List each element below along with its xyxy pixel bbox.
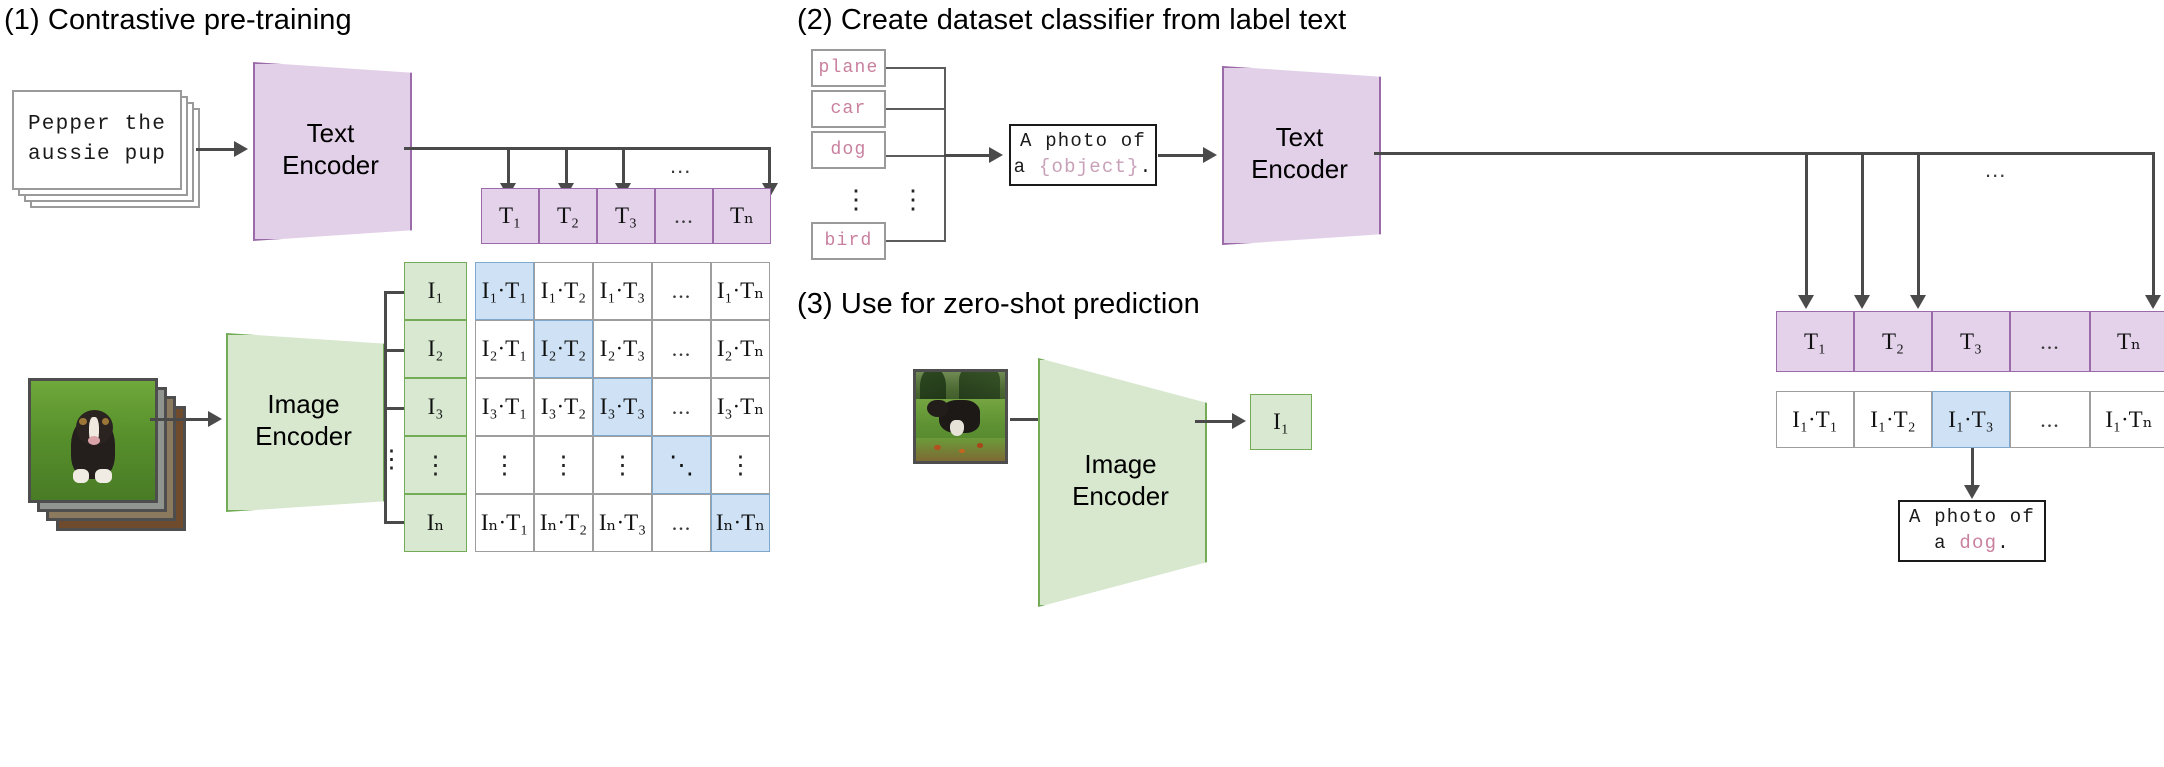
t1-drop-line-s1 <box>507 147 510 185</box>
matrix-cell-r4c3: ⋮ <box>593 436 652 494</box>
section-3-title: (3) Use for zero-shot prediction <box>797 288 1200 321</box>
prompt-input-arrow <box>989 147 1003 163</box>
score-cell-ellipsis: ... <box>2010 391 2090 448</box>
label-text-plane: plane <box>818 58 878 78</box>
t3-drop-line-s2 <box>1917 152 1920 298</box>
caption-card-stack: Pepper the aussie pup <box>12 90 202 210</box>
score-cell-1: I₁·T₁ <box>1776 391 1854 448</box>
score-to-prediction-line <box>1971 448 1974 488</box>
caption-line-1: Pepper the <box>28 110 166 140</box>
prompt-input-line <box>944 154 992 157</box>
score-row-s3: I₁·T₁ I₁·T₂ I₁·T₃ ... I₁·Tₙ <box>1776 391 2164 448</box>
matrix-cell-r2c4: ... <box>652 320 711 378</box>
t1-drop-line-s2 <box>1805 152 1808 298</box>
matrix-cell-r2c5: I₂·Tₙ <box>711 320 770 378</box>
label-list-ellipsis-right: ⋮ <box>900 192 926 208</box>
matrix-cell-r5c1: Iₙ·T₁ <box>475 494 534 552</box>
prompt-line-1: A photo of <box>1020 129 1146 155</box>
caption-card-front: Pepper the aussie pup <box>12 90 182 190</box>
section-2-title: (2) Create dataset classifier from label… <box>797 4 1346 37</box>
matrix-cell-r5c5: Iₙ·Tₙ <box>711 494 770 552</box>
label-text-car: car <box>830 99 866 119</box>
image-encoder-s3: Image Encoder <box>1038 358 1203 603</box>
t2-drop-line-s1 <box>565 147 568 185</box>
t3-drop-line-s1 <box>622 147 625 185</box>
tn-drop-arrow-s2 <box>2145 295 2161 309</box>
conn-car-down <box>944 108 946 156</box>
matrix-cell-r3c5: I₃·Tₙ <box>711 378 770 436</box>
arrow-encoder-to-i1-line <box>1195 420 1235 423</box>
prediction-suffix: . <box>1997 532 2010 554</box>
prediction-line-1: A photo of <box>1909 505 2035 531</box>
arrow-caption-to-text-encoder-line <box>196 148 236 151</box>
i-cell-1-s1: I₁ <box>404 262 467 320</box>
score-cell-2: I₁·T₂ <box>1854 391 1932 448</box>
prediction-line-2-prefix: a <box>1934 532 1959 554</box>
text-encoder-s1-line2: Encoder <box>282 150 379 182</box>
t-cell-2-s2: T₂ <box>1854 311 1932 372</box>
matrix-cell-r3c2: I₃·T₂ <box>534 378 593 436</box>
prediction-slot: dog <box>1959 532 1997 554</box>
t-cell-n-s1: Tₙ <box>713 188 771 244</box>
label-list-ellipsis-left: ⋮ <box>843 192 869 208</box>
text-encoder-s1: Text Encoder <box>253 62 408 237</box>
matrix-cell-r5c2: Iₙ·T₂ <box>534 494 593 552</box>
matrix-row: ⋮ ⋮ ⋮ ⋱ ⋮ <box>475 436 770 494</box>
t3-drop-arrow-s2 <box>1910 295 1926 309</box>
label-text-bird: bird <box>824 231 872 251</box>
training-image-puppy <box>28 378 158 503</box>
prediction-box: A photo of a dog. <box>1898 500 2046 562</box>
t-cell-ellipsis-s2: ... <box>2010 311 2090 372</box>
text-encoder-bus-s2 <box>1374 152 2154 155</box>
i-cell-ellipsis-s1: ⋮ <box>404 436 467 494</box>
section-1-title: (1) Contrastive pre-training <box>4 4 352 37</box>
score-cell-3: I₁·T₃ <box>1932 391 2010 448</box>
conn-dog-out <box>886 155 946 157</box>
image-encoder-s1: Image Encoder <box>226 333 381 508</box>
prompt-slot: {object} <box>1039 156 1140 178</box>
t2-drop-line-s2 <box>1861 152 1864 298</box>
label-box-plane: plane <box>811 49 886 87</box>
text-embedding-row-s1: T₁ T₂ T₃ ... Tₙ <box>481 188 771 244</box>
similarity-matrix-s1: I₁·T₁ I₁·T₂ I₁·T₃ ... I₁·Tₙ I₂·T₁ I₂·T₂ … <box>475 262 770 552</box>
matrix-cell-r1c5: I₁·Tₙ <box>711 262 770 320</box>
arrow-encoder-to-i1-head <box>1232 413 1246 429</box>
image-stack-s1 <box>28 378 193 538</box>
matrix-cell-r4c5: ⋮ <box>711 436 770 494</box>
image-encoder-s3-line2: Encoder <box>1072 481 1169 513</box>
label-text-dog: dog <box>830 140 866 160</box>
matrix-cell-r1c2: I₁·T₂ <box>534 262 593 320</box>
matrix-cell-r5c3: Iₙ·T₃ <box>593 494 652 552</box>
matrix-cell-r2c2: I₂·T₂ <box>534 320 593 378</box>
text-encoder-s2: Text Encoder <box>1222 66 1377 241</box>
matrix-cell-r1c4: ... <box>652 262 711 320</box>
t-cell-ellipsis-s1: ... <box>655 188 713 244</box>
conn-car-out <box>886 108 946 110</box>
score-cell-n: I₁·Tₙ <box>2090 391 2164 448</box>
matrix-row: I₃·T₁ I₃·T₂ I₃·T₃ ... I₃·Tₙ <box>475 378 770 436</box>
matrix-cell-r4c2: ⋮ <box>534 436 593 494</box>
image-embedding-column-s1: I₁ I₂ I₃ ⋮ Iₙ <box>404 262 467 552</box>
matrix-row: Iₙ·T₁ Iₙ·T₂ Iₙ·T₃ ... Iₙ·Tₙ <box>475 494 770 552</box>
text-bus-ellipsis-s1: ... <box>670 153 691 179</box>
image-encoder-s1-line1: Image <box>255 389 352 421</box>
query-image-dog <box>913 369 1008 464</box>
matrix-cell-r2c3: I₂·T₃ <box>593 320 652 378</box>
arrow-image-to-image-encoder-line <box>150 418 210 421</box>
t-cell-3-s1: T₃ <box>597 188 655 244</box>
text-encoder-s1-line1: Text <box>282 118 379 150</box>
label-box-dog: dog <box>811 131 886 169</box>
text-embedding-row-s2: T₁ T₂ T₃ ... Tₙ <box>1776 311 2164 372</box>
matrix-cell-r1c3: I₁·T₃ <box>593 262 652 320</box>
t-cell-3-s2: T₃ <box>1932 311 2010 372</box>
prediction-line-2: a dog. <box>1934 531 2010 557</box>
conn-bird-out <box>886 240 946 242</box>
conn-bird-up <box>944 156 946 241</box>
matrix-cell-r2c1: I₂·T₁ <box>475 320 534 378</box>
text-encoder-s2-line2: Encoder <box>1251 154 1348 186</box>
matrix-cell-r4c1: ⋮ <box>475 436 534 494</box>
matrix-cell-r1c1: I₁·T₁ <box>475 262 534 320</box>
matrix-cell-r4c4: ⋱ <box>652 436 711 494</box>
conn-plane-out <box>886 67 946 69</box>
prompt-line-2-prefix: a <box>1014 156 1039 178</box>
arrow-image-to-image-encoder-head <box>208 411 222 427</box>
prompt-line-2: a {object}. <box>1014 155 1153 181</box>
matrix-row: I₁·T₁ I₁·T₂ I₁·T₃ ... I₁·Tₙ <box>475 262 770 320</box>
matrix-row: I₂·T₁ I₂·T₂ I₂·T₃ ... I₂·Tₙ <box>475 320 770 378</box>
t2-drop-arrow-s2 <box>1854 295 1870 309</box>
arrow-caption-to-text-encoder-head <box>234 141 248 157</box>
image-bus-ellipsis-s1: ⋮ <box>379 452 404 467</box>
image-embedding-s3: I₁ <box>1250 394 1312 450</box>
t-cell-1-s1: T₁ <box>481 188 539 244</box>
i-cell-2-s1: I₂ <box>404 320 467 378</box>
t1-drop-arrow-s2 <box>1798 295 1814 309</box>
caption-line-2: aussie pup <box>28 140 166 170</box>
matrix-cell-r5c4: ... <box>652 494 711 552</box>
text-bus-right-drop-s1 <box>768 147 771 187</box>
matrix-cell-r3c4: ... <box>652 378 711 436</box>
prompt-to-encoder-arrow <box>1203 147 1217 163</box>
t-cell-n-s2: Tₙ <box>2090 311 2164 372</box>
text-encoder-s2-line1: Text <box>1251 122 1348 154</box>
matrix-cell-r3c3: I₃·T₃ <box>593 378 652 436</box>
i-cell-3-s1: I₃ <box>404 378 467 436</box>
score-to-prediction-arrow <box>1964 485 1980 499</box>
tn-drop-line-s2 <box>2152 152 2155 298</box>
label-box-car: car <box>811 90 886 128</box>
prompt-suffix: . <box>1140 156 1153 178</box>
text-encoder-bus-s1 <box>404 147 771 150</box>
t-cell-1-s2: T₁ <box>1776 311 1854 372</box>
prompt-template-box: A photo of a {object}. <box>1009 124 1157 186</box>
t-cell-2-s1: T₂ <box>539 188 597 244</box>
image-encoder-s1-line2: Encoder <box>255 421 352 453</box>
label-box-bird: bird <box>811 222 886 260</box>
image-encoder-s3-line1: Image <box>1072 449 1169 481</box>
i-cell-n-s1: Iₙ <box>404 494 467 552</box>
prompt-to-encoder-line <box>1158 154 1206 157</box>
text-bus-ellipsis-s2: ... <box>1985 157 2006 183</box>
matrix-cell-r3c1: I₃·T₁ <box>475 378 534 436</box>
